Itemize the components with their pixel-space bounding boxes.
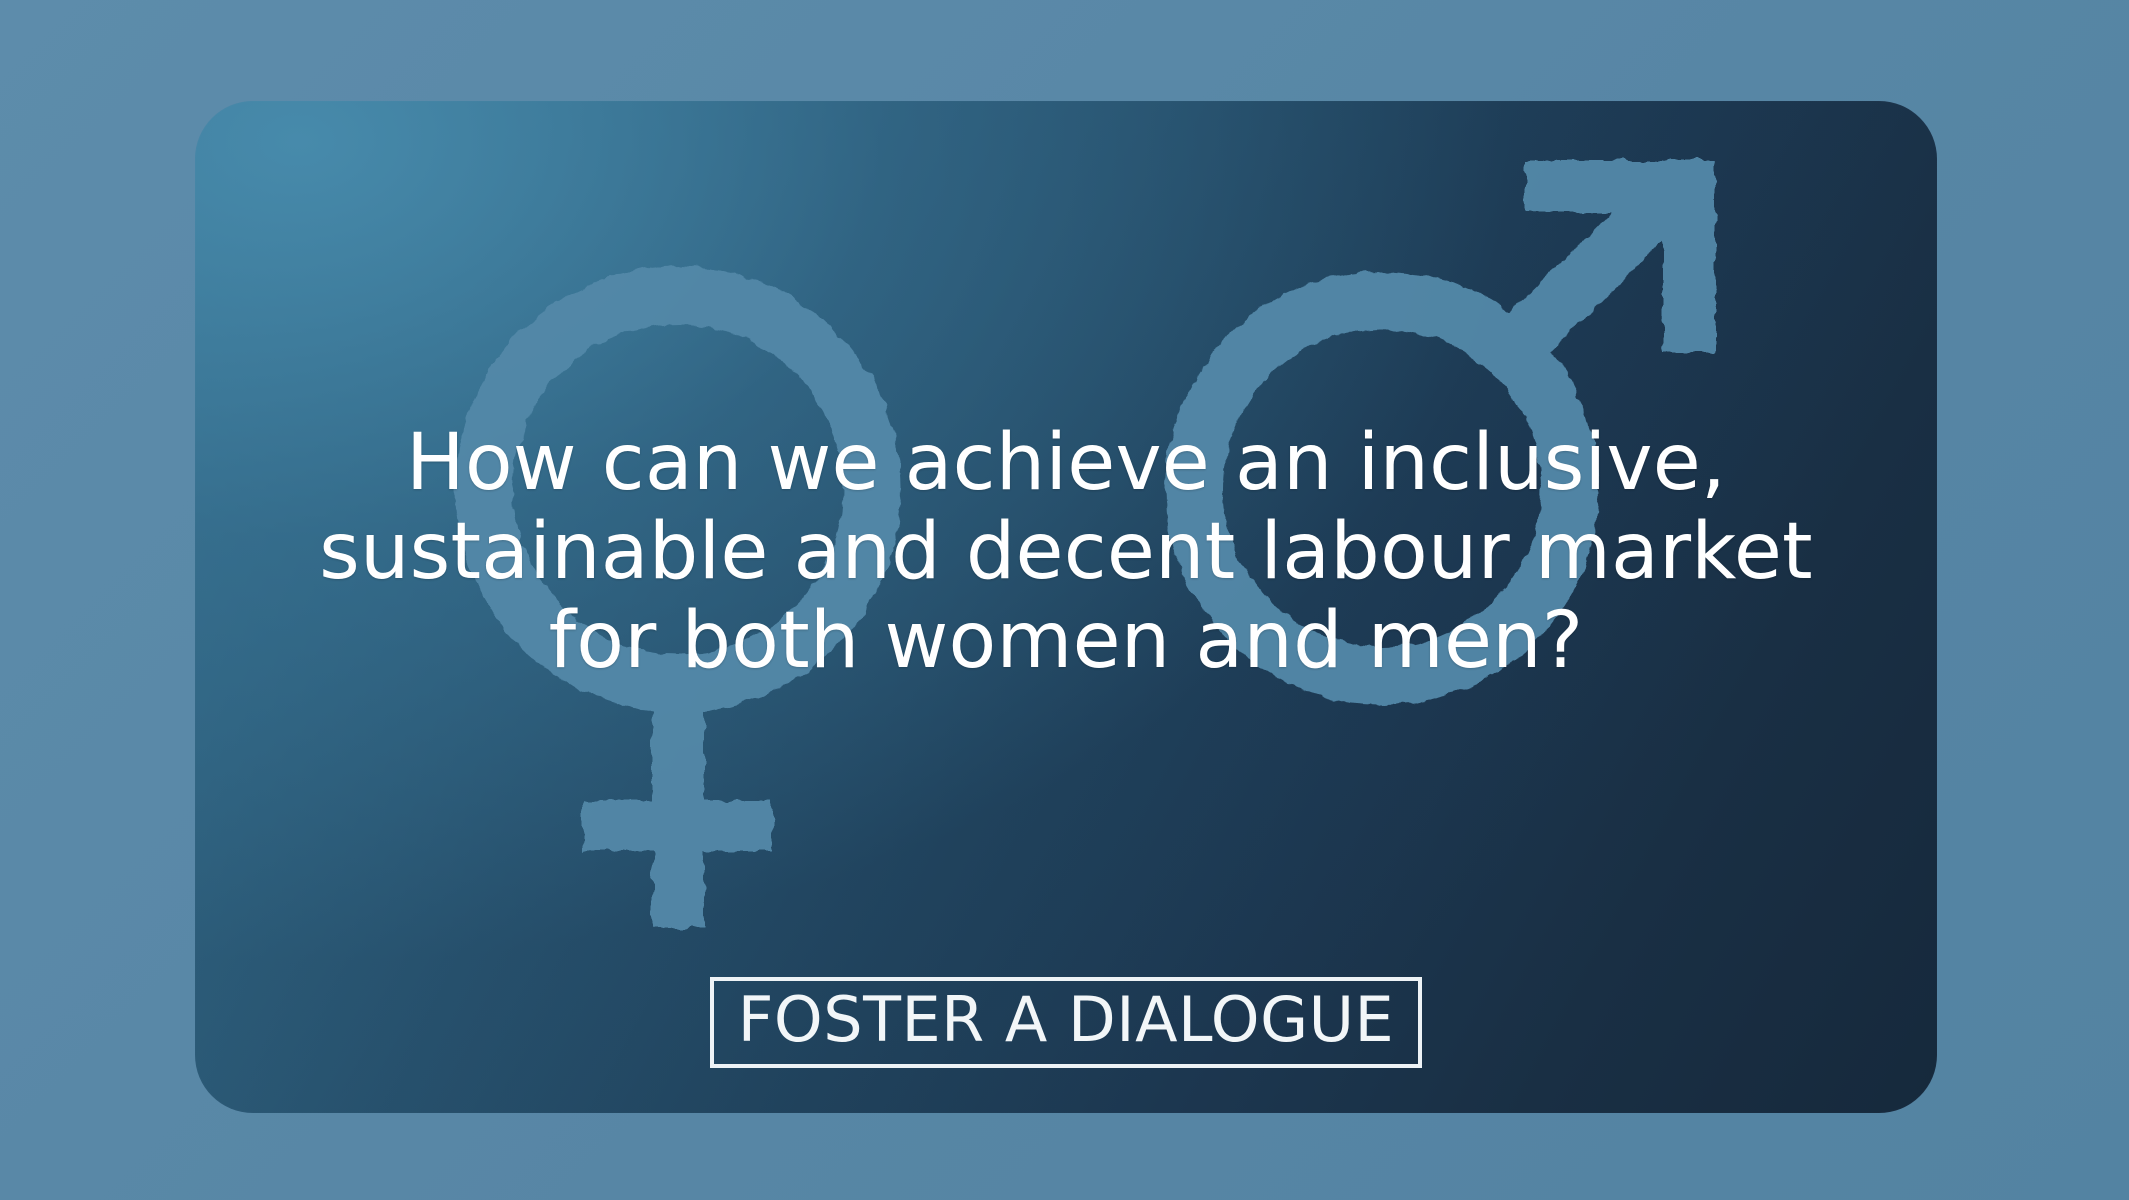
- headline-line-2: sustainable and decent labour market: [195, 508, 1937, 597]
- tag-container: FOSTER A DIALOGUE: [195, 977, 1937, 1068]
- foster-a-dialogue-label: FOSTER A DIALOGUE: [738, 988, 1394, 1052]
- slide-canvas: How can we achieve an inclusive, sustain…: [0, 0, 2129, 1200]
- headline: How can we achieve an inclusive, sustain…: [195, 419, 1937, 686]
- headline-line-3: for both women and men?: [195, 597, 1937, 686]
- foster-a-dialogue-box[interactable]: FOSTER A DIALOGUE: [710, 977, 1422, 1068]
- content-card: How can we achieve an inclusive, sustain…: [195, 101, 1937, 1113]
- headline-line-1: How can we achieve an inclusive,: [195, 419, 1937, 508]
